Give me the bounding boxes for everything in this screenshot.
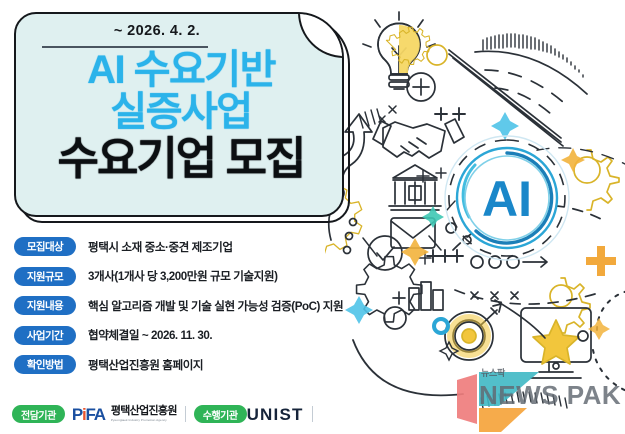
info-badge-scale: 지원규모 — [14, 267, 76, 286]
watermark-korean: 뉴스팍 — [481, 366, 505, 379]
plus-circle-icon — [407, 73, 435, 101]
card-face: ~ 2026. 4. 2. AI 수요기반 실증사업 수요기업 모집 — [14, 12, 344, 217]
supervising-org-pill: 전담기관 — [12, 405, 65, 423]
unist-logo: UNIST — [247, 406, 304, 423]
date-line: ~ 2026. 4. 2. — [16, 22, 342, 40]
pifa-name-korean: 평택산업진흥원 — [111, 406, 177, 417]
footer-divider-tail — [312, 406, 313, 422]
info-badge-howto: 확인방법 — [14, 355, 76, 374]
headline-card: ~ 2026. 4. 2. AI 수요기반 실증사업 수요기업 모집 — [14, 12, 344, 217]
ai-illustration: AI — [325, 0, 625, 434]
news-pak-watermark — [455, 352, 625, 434]
footer-organizations: 전담기관 PiFA 평택산업진흥원 Pyeongtaek Industry Pr… — [12, 402, 313, 426]
pifa-name-english: Pyeongtaek Industry Promotion Agency — [111, 419, 177, 422]
check-circle-icon — [368, 236, 402, 270]
info-row: 지원내용 핵심 알고리즘 개발 및 기술 실현 가능성 검증(PoC) 지원 — [14, 293, 364, 318]
info-row: 모집대상 평택시 소재 중소·중견 제조기업 — [14, 234, 364, 259]
gear-icon — [574, 150, 619, 210]
performing-org-pill: 수행기관 — [194, 405, 247, 423]
gear-icon — [386, 27, 447, 65]
ai-label: AI — [482, 171, 532, 227]
sparkle-icon — [345, 112, 610, 364]
info-badge-content: 지원내용 — [14, 296, 76, 315]
footer-divider — [185, 406, 186, 422]
monitor-star-icon — [521, 308, 591, 378]
title-line-2: 실증사업 — [16, 92, 344, 132]
info-value-content: 핵심 알고리즘 개발 및 기술 실현 가능성 검증(PoC) 지원 — [88, 298, 343, 314]
info-value-target: 평택시 소재 중소·중견 제조기업 — [88, 239, 233, 255]
title-block: AI 수요기반 실증사업 수요기업 모집 — [16, 50, 344, 181]
envelope-icon — [391, 218, 435, 248]
watermark-text-layer: 뉴스팍 NEWS PAK — [455, 352, 625, 434]
info-row: 지원규모 3개사(1개사 당 3,200만원 규모 기술지원) — [14, 264, 364, 289]
pifa-logo: PiFA — [72, 406, 105, 423]
info-list: 모집대상 평택시 소재 중소·중견 제조기업 지원규모 3개사(1개사 당 3,… — [14, 234, 364, 382]
ai-badge — [445, 136, 569, 260]
info-row: 확인방법 평택산업진흥원 홈페이지 — [14, 352, 364, 377]
gear-icon — [357, 257, 422, 329]
title-line-1: AI 수요기반 — [16, 50, 344, 90]
handshake-icon — [373, 119, 464, 158]
application-deadline: ~ 2026. 4. 2. — [114, 23, 200, 39]
dots-arrow-icon — [471, 256, 547, 268]
target-icon — [445, 304, 501, 360]
info-badge-period: 사업기간 — [14, 326, 76, 345]
info-value-howto: 평택산업진흥원 홈페이지 — [88, 357, 203, 373]
info-value-scale: 3개사(1개사 당 3,200만원 규모 기술지원) — [88, 268, 277, 284]
title-line-3: 수요기업 모집 — [16, 136, 344, 181]
bank-icon — [389, 165, 441, 210]
info-row: 사업기간 협약체결일 ~ 2026. 11. 30. — [14, 323, 364, 348]
watermark-label: NEWS PAK — [479, 382, 621, 408]
info-value-period: 협약체결일 ~ 2026. 11. 30. — [88, 327, 212, 343]
pifa-name-block: 평택산업진흥원 Pyeongtaek Industry Promotion Ag… — [111, 406, 177, 422]
gear-icon — [550, 278, 590, 333]
info-badge-target: 모집대상 — [14, 237, 76, 256]
bar-chart-icon — [393, 282, 443, 310]
poster-root: AI ~ 2026. 4. 2. AI 수요기반 실증사업 수요기업 모집 모집… — [0, 0, 625, 434]
lightbulb-icon — [363, 12, 435, 89]
